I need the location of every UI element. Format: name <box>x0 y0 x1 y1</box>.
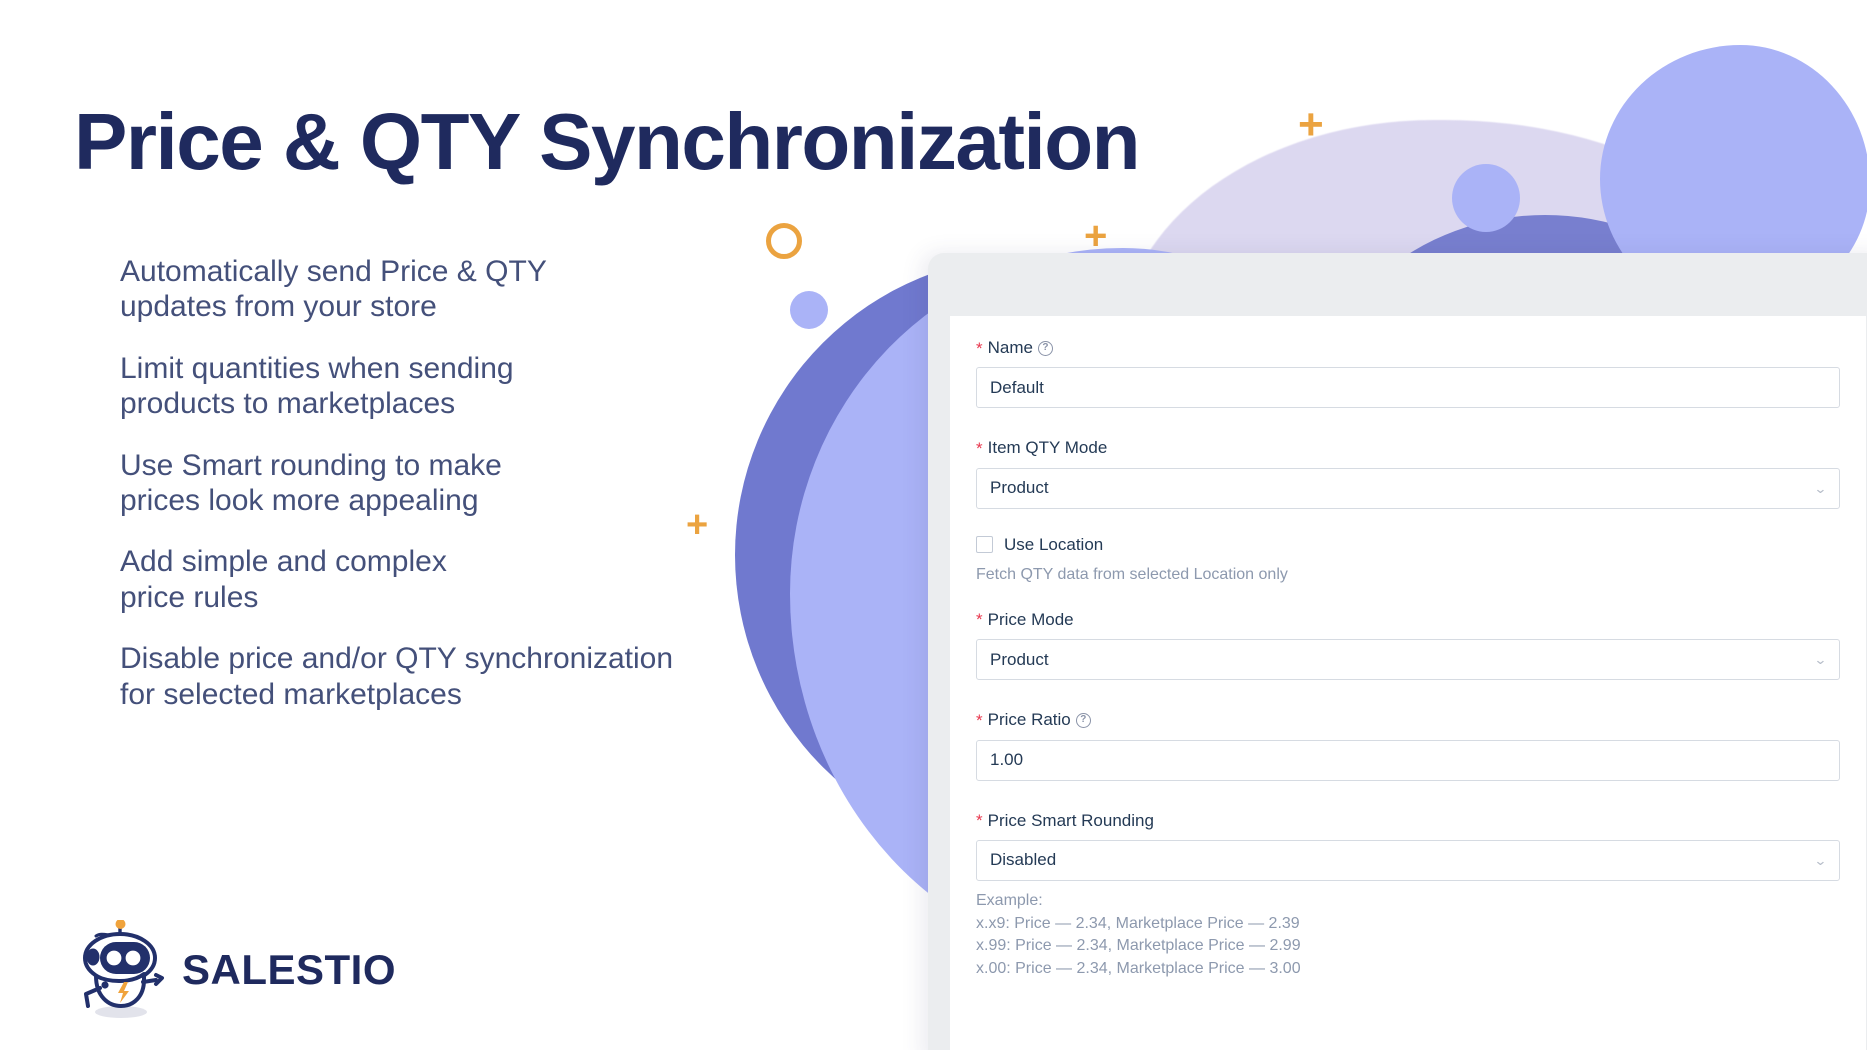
brand-name: SALESTIO <box>182 946 396 994</box>
required-asterisk: * <box>976 440 983 457</box>
feature-list: Automatically send Price & QTY updates f… <box>120 254 780 738</box>
robot-mascot-icon <box>74 920 170 1020</box>
field-item-qty-mode-label: * Item QTY Mode <box>976 438 1840 458</box>
name-input[interactable]: Default <box>976 367 1840 408</box>
field-name: * Name ? Default <box>976 338 1840 408</box>
required-asterisk: * <box>976 611 983 628</box>
plus-mark-icon-middle: + <box>1084 216 1107 256</box>
field-label-text: Item QTY Mode <box>988 438 1108 458</box>
use-location-checkbox[interactable] <box>976 536 993 553</box>
required-asterisk: * <box>976 340 983 357</box>
field-price-mode: * Price Mode Product ⌄ <box>976 610 1840 680</box>
chevron-down-icon: ⌄ <box>1814 653 1828 666</box>
field-label-text: Name <box>988 338 1033 358</box>
select-value: Disabled <box>990 850 1056 870</box>
chevron-down-icon: ⌄ <box>1814 854 1828 867</box>
select-value: Product <box>990 478 1049 498</box>
list-item: Limit quantities when sending products t… <box>120 351 780 422</box>
use-location-label: Use Location <box>1004 535 1103 555</box>
help-icon[interactable]: ? <box>1038 341 1053 356</box>
field-price-ratio-label: * Price Ratio ? <box>976 710 1840 730</box>
spacer <box>976 688 1840 710</box>
field-label-text: Price Ratio <box>988 710 1071 730</box>
select-value: Product <box>990 650 1049 670</box>
small-accent-dot-shape <box>790 291 828 329</box>
example-title: Example: <box>976 890 1840 913</box>
brand-logo: SALESTIO <box>74 920 396 1020</box>
settings-form-card: * Name ? Default * Item QTY Mode Product… <box>950 316 1866 1050</box>
example-line: x.00: Price — 2.34, Marketplace Price — … <box>976 958 1840 981</box>
required-asterisk: * <box>976 712 983 729</box>
list-item: Automatically send Price & QTY updates f… <box>120 254 780 325</box>
field-name-label: * Name ? <box>976 338 1840 358</box>
item-qty-mode-select[interactable]: Product ⌄ <box>976 468 1840 509</box>
field-price-mode-label: * Price Mode <box>976 610 1840 630</box>
slide-canvas: + + + Price & QTY Synchronization Automa… <box>0 0 1867 1050</box>
field-label-text: Price Smart Rounding <box>988 811 1154 831</box>
price-ratio-input[interactable]: 1.00 <box>976 740 1840 781</box>
spacer <box>976 789 1840 811</box>
price-mode-select[interactable]: Product ⌄ <box>976 639 1840 680</box>
spacer <box>976 416 1840 438</box>
field-price-smart-rounding-label: * Price Smart Rounding <box>976 811 1840 831</box>
page-title: Price & QTY Synchronization <box>74 96 1139 188</box>
example-line: x.x9: Price — 2.34, Marketplace Price — … <box>976 913 1840 936</box>
field-price-smart-rounding: * Price Smart Rounding Disabled ⌄ <box>976 811 1840 881</box>
chevron-down-icon: ⌄ <box>1814 482 1828 495</box>
window-titlebar <box>928 253 1867 316</box>
field-label-text: Price Mode <box>988 610 1074 630</box>
example-line: x.99: Price — 2.34, Marketplace Price — … <box>976 935 1840 958</box>
plus-mark-icon-top: + <box>1298 103 1324 147</box>
price-smart-rounding-select[interactable]: Disabled ⌄ <box>976 840 1840 881</box>
field-price-ratio: * Price Ratio ? 1.00 <box>976 710 1840 780</box>
list-item: Add simple and complex price rules <box>120 544 780 615</box>
list-item: Use Smart rounding to make prices look m… <box>120 448 780 519</box>
help-icon[interactable]: ? <box>1076 713 1091 728</box>
app-window: * Name ? Default * Item QTY Mode Product… <box>928 253 1867 1050</box>
rounding-example-block: Example: x.x9: Price — 2.34, Marketplace… <box>976 890 1840 981</box>
required-asterisk: * <box>976 812 983 829</box>
use-location-checkbox-row[interactable]: Use Location <box>976 535 1840 555</box>
small-periwinkle-circle-shape <box>1452 164 1520 232</box>
use-location-hint: Fetch QTY data from selected Location on… <box>976 566 1840 584</box>
list-item: Disable price and/or QTY synchronization… <box>120 641 780 712</box>
field-item-qty-mode: * Item QTY Mode Product ⌄ <box>976 438 1840 508</box>
